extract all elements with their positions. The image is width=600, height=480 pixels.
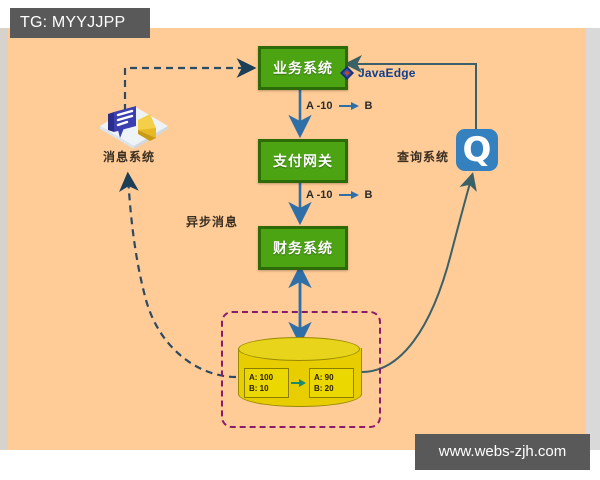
cylinder-top: [238, 337, 360, 361]
label-message-system: 消息系统: [103, 148, 155, 165]
node-business-system[interactable]: 业务系统: [258, 46, 348, 90]
label-async-message: 异步消息: [186, 213, 238, 230]
right-gutter-strip: [584, 28, 600, 450]
diagram-canvas: 业务系统 支付网关 财务系统 A -10 B A -10 B 异步消息 消息系统: [0, 0, 600, 480]
node-finance-system-label: 财务系统: [273, 238, 333, 258]
query-glyph: Q: [463, 133, 492, 167]
tg-tag: TG: MYYJJPP: [10, 8, 150, 38]
message-system-icon: [94, 100, 174, 148]
node-payment-gateway-label: 支付网关: [273, 151, 333, 171]
db-state-before: A: 100 B: 10: [244, 368, 289, 398]
edge-label-b-from: A -10: [306, 189, 333, 201]
edge-label-payment-to-finance: A -10 B: [306, 189, 372, 201]
arrow-right-icon: [339, 101, 359, 111]
edge-label-b-to: B: [365, 189, 373, 201]
db-after-line1: A: 90: [314, 372, 349, 383]
node-payment-gateway[interactable]: 支付网关: [258, 139, 348, 183]
node-database[interactable]: A: 100 B: 10 A: 90 B: 20: [238, 337, 360, 409]
node-query-system[interactable]: Q: [456, 129, 498, 171]
site-watermark: www.webs-zjh.com: [415, 434, 590, 470]
db-before-line1: A: 100: [249, 372, 284, 383]
javaedge-watermark: JavaEdge: [340, 66, 416, 80]
node-business-system-label: 业务系统: [273, 58, 333, 78]
edge-label-a-from: A -10: [306, 100, 333, 112]
node-finance-system[interactable]: 财务系统: [258, 226, 348, 270]
state-transition-arrow-icon: [291, 378, 307, 388]
db-state-after: A: 90 B: 20: [309, 368, 354, 398]
label-query-system: 查询系统: [397, 148, 449, 165]
edge-label-business-to-payment: A -10 B: [306, 100, 372, 112]
db-before-line2: B: 10: [249, 383, 284, 394]
arrow-right-icon: [339, 190, 359, 200]
db-after-line2: B: 20: [314, 383, 349, 394]
edge-label-a-to: B: [365, 100, 373, 112]
database-state-row: A: 100 B: 10 A: 90 B: 20: [244, 363, 354, 403]
javaedge-text: JavaEdge: [358, 66, 416, 80]
javaedge-logo-icon: [340, 66, 354, 80]
